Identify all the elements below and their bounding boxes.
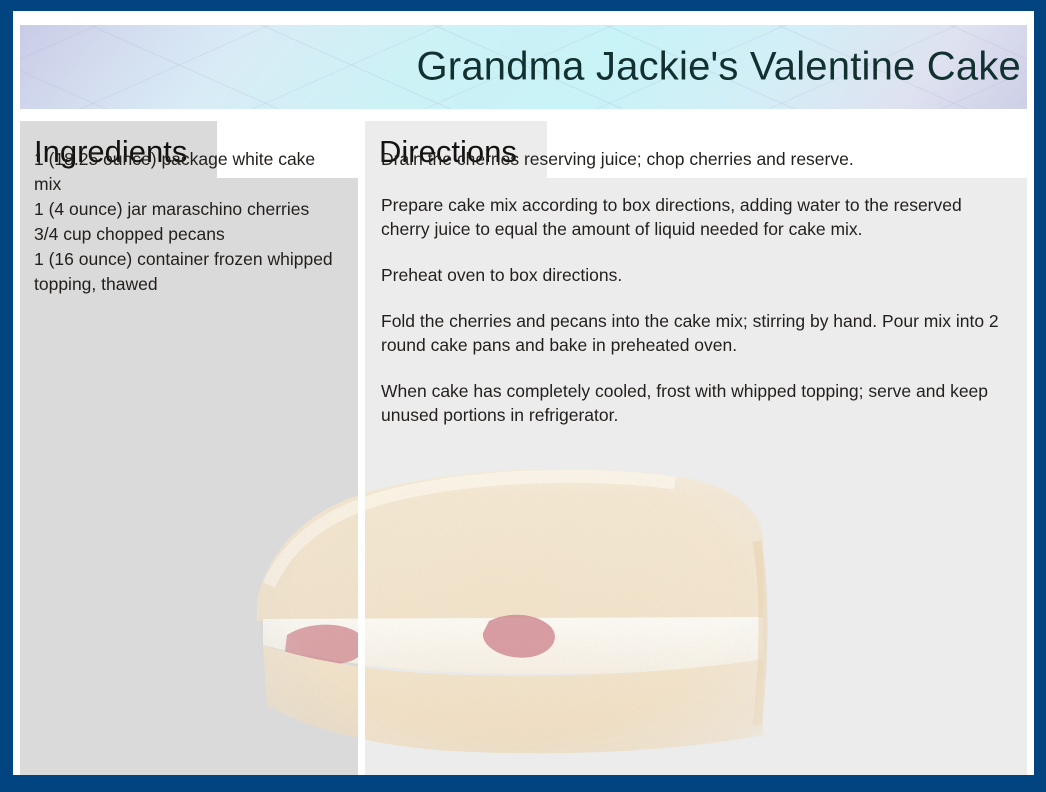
list-item: Prepare cake mix according to box direct… bbox=[381, 193, 1009, 241]
directions-panel: Directions Drain the cherries reserving … bbox=[365, 121, 1027, 775]
list-item: When cake has completely cooled, frost w… bbox=[381, 379, 1009, 427]
panel-gutter bbox=[358, 121, 365, 775]
recipe-card: Grandma Jackie's Valentine Cake Ingredie… bbox=[13, 11, 1034, 775]
directions-list: Drain the cherries reserving juice; chop… bbox=[365, 121, 1027, 427]
ingredients-panel: Ingredients 1 (18.25 ounce) package whit… bbox=[20, 121, 358, 775]
list-item: Preheat oven to box directions. bbox=[381, 263, 1009, 287]
title-banner: Grandma Jackie's Valentine Cake bbox=[20, 25, 1027, 109]
list-item: 1 (18.25 ounce) package white cake mix bbox=[34, 147, 342, 197]
list-item: Fold the cherries and pecans into the ca… bbox=[381, 309, 1009, 357]
page-title: Grandma Jackie's Valentine Cake bbox=[416, 45, 1021, 90]
recipe-content: Ingredients 1 (18.25 ounce) package whit… bbox=[13, 121, 1034, 775]
list-item: 3/4 cup chopped pecans bbox=[34, 222, 342, 247]
ingredients-list: 1 (18.25 ounce) package white cake mix 1… bbox=[20, 121, 358, 297]
list-item: 1 (16 ounce) container frozen whipped to… bbox=[34, 247, 342, 297]
list-item: 1 (4 ounce) jar maraschino cherries bbox=[34, 197, 342, 222]
list-item: Drain the cherries reserving juice; chop… bbox=[381, 147, 1009, 171]
